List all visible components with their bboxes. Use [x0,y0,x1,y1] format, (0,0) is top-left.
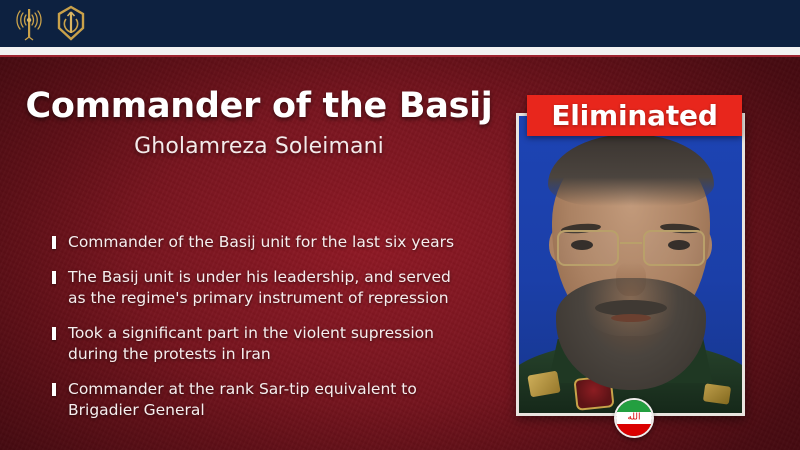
bullet-text: The Basij unit is under his leadership, … [68,267,451,309]
idf-spokesperson-emblem-icon [14,5,44,45]
portrait-hair [548,134,714,206]
list-item: Took a significant part in the violent s… [52,323,502,365]
bullet-list: Commander of the Basij unit for the last… [52,232,502,434]
list-item: Commander at the rank Sar-tip equivalent… [52,379,502,421]
portrait-mouth [611,314,651,322]
page-subtitle: Gholamreza Soleimani [24,134,494,159]
rank-insignia-right [703,383,731,404]
iran-flag-badge-icon: الله [614,398,654,438]
header-divider [0,47,800,55]
bullet-marker-icon [52,236,56,249]
portrait-glasses [551,230,711,264]
glasses-lens-right [643,230,705,266]
bullet-marker-icon [52,327,56,340]
glasses-lens-left [557,230,619,266]
bullet-text: Commander at the rank Sar-tip equivalent… [68,379,417,421]
glasses-bridge [620,242,642,244]
header-bar [0,0,800,47]
status-badge-label: Eliminated [551,99,717,132]
page-title: Commander of the Basij [24,88,494,126]
idf-insignia-emblem-icon [54,5,88,45]
status-badge: Eliminated [527,95,742,136]
flag-emblem-icon: الله [627,414,640,423]
list-item: Commander of the Basij unit for the last… [52,232,502,253]
list-item: The Basij unit is under his leadership, … [52,267,502,309]
bullet-marker-icon [52,271,56,284]
title-block: Commander of the Basij Gholamreza Soleim… [24,88,494,159]
bullet-text: Commander of the Basij unit for the last… [68,232,454,253]
flag-stripe-white: الله [616,412,652,424]
bullet-marker-icon [52,383,56,396]
header-emblems [14,5,88,45]
portrait-illustration [519,116,742,413]
flag-stripe-green [616,400,652,412]
broadcast-slide: Commander of the Basij Gholamreza Soleim… [0,0,800,450]
bullet-text: Took a significant part in the violent s… [68,323,434,365]
portrait-photo [516,113,745,416]
